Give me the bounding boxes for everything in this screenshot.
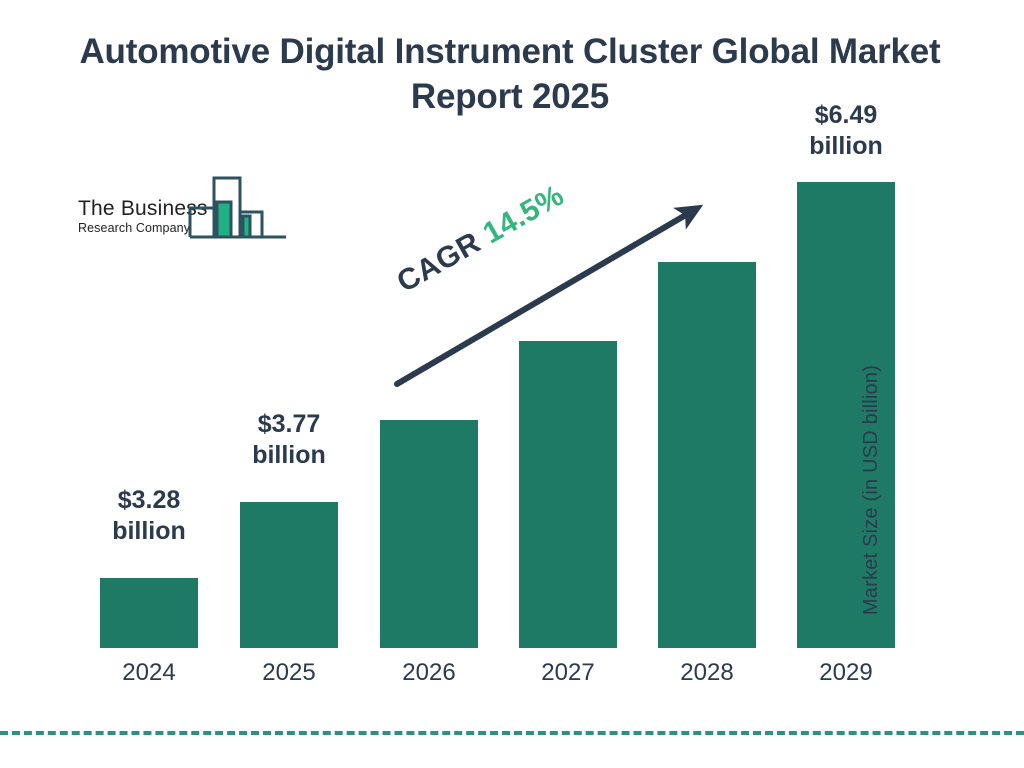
bar-value-2029-unit: billion — [787, 131, 905, 162]
bar-value-2029: $6.49 billion — [787, 100, 905, 161]
bar-value-2024: $3.28 billion — [90, 485, 208, 546]
bar-value-2024-number: $3.28 — [90, 485, 208, 516]
bar-value-2025: $3.77 billion — [230, 409, 348, 470]
bar-2028 — [658, 262, 756, 648]
x-tick-2024: 2024 — [100, 659, 198, 687]
x-tick-2028: 2028 — [658, 659, 756, 687]
bar-value-2029-number: $6.49 — [787, 100, 905, 131]
bar-value-2024-unit: billion — [90, 516, 208, 547]
bar-value-2025-number: $3.77 — [230, 409, 348, 440]
y-axis-label: Market Size (in USD billion) — [860, 330, 883, 650]
bar-2024 — [100, 578, 198, 648]
bar-2025 — [240, 502, 338, 648]
bar-2026 — [380, 420, 478, 648]
x-tick-2027: 2027 — [519, 659, 617, 687]
bar-2027 — [519, 341, 617, 648]
x-tick-2029: 2029 — [797, 659, 895, 687]
x-tick-2026: 2026 — [380, 659, 478, 687]
x-tick-2025: 2025 — [240, 659, 338, 687]
chart-canvas: Automotive Digital Instrument Cluster Gl… — [0, 0, 1024, 768]
bar-value-2025-unit: billion — [230, 440, 348, 471]
footer-divider — [0, 731, 1024, 735]
